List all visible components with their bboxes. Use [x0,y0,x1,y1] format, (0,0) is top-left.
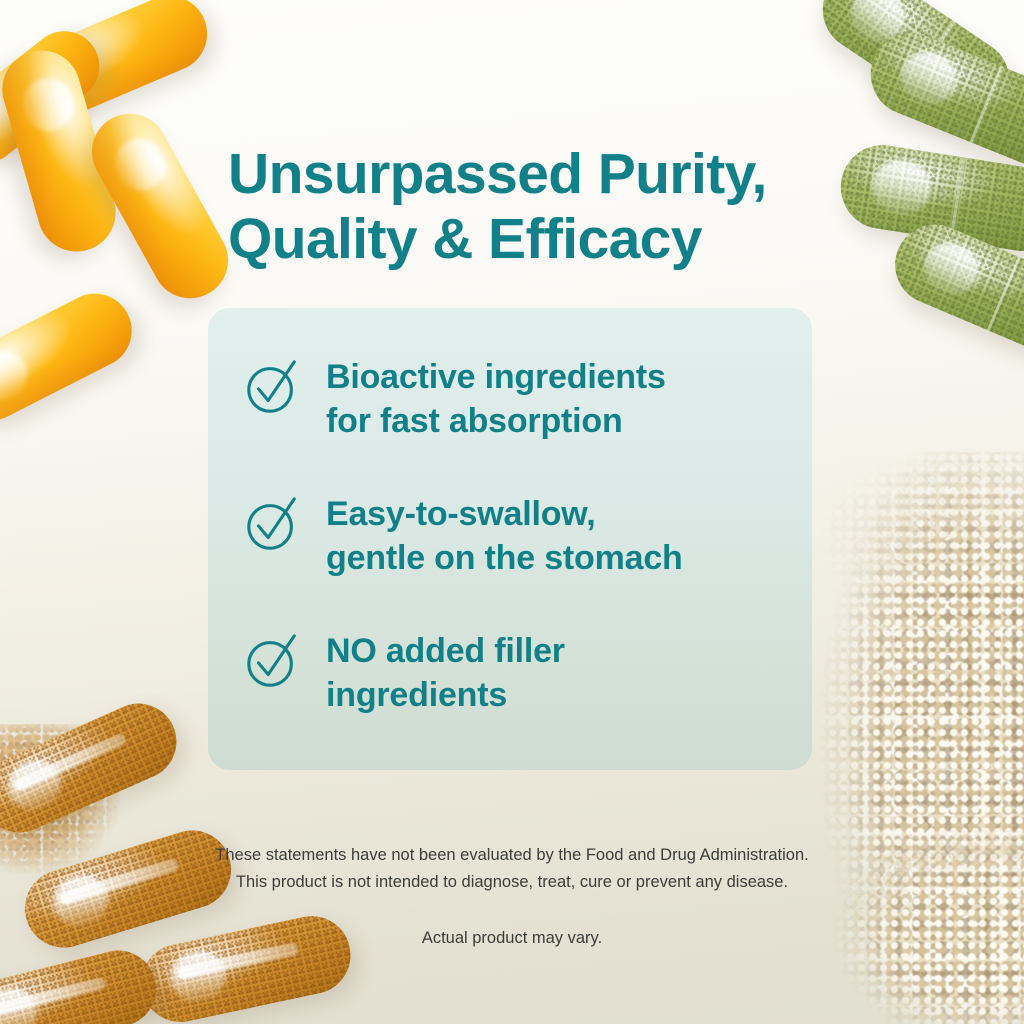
check-circle-icon [244,358,302,416]
check-circle-icon [244,632,302,690]
fda-disclaimer-text: These statements have not been evaluated… [212,842,812,895]
list-item: Easy-to-swallow, gentle on the stomach [244,491,786,580]
page-title-line-1: Unsurpassed Purity, [228,142,767,206]
list-item: Bioactive ingredients for fast absorptio… [244,354,786,443]
product-variation-note: Actual product may vary. [212,925,812,952]
list-item: NO added filler ingredients [244,628,786,717]
promo-graphic: Unsurpassed Purity, Quality & Efficacy B… [0,0,1024,1024]
check-circle-icon [244,495,302,553]
benefits-panel: Bioactive ingredients for fast absorptio… [208,308,812,770]
page-title: Unsurpassed Purity, Quality & Efficacy [228,142,838,272]
list-item-label: Easy-to-swallow, gentle on the stomach [326,491,683,580]
benefits-list: Bioactive ingredients for fast absorptio… [244,354,786,717]
list-item-label: NO added filler ingredients [326,628,565,717]
disclaimer: These statements have not been evaluated… [212,842,812,952]
page-title-line-2: Quality & Efficacy [228,207,838,272]
list-item-label: Bioactive ingredients for fast absorptio… [326,354,666,443]
